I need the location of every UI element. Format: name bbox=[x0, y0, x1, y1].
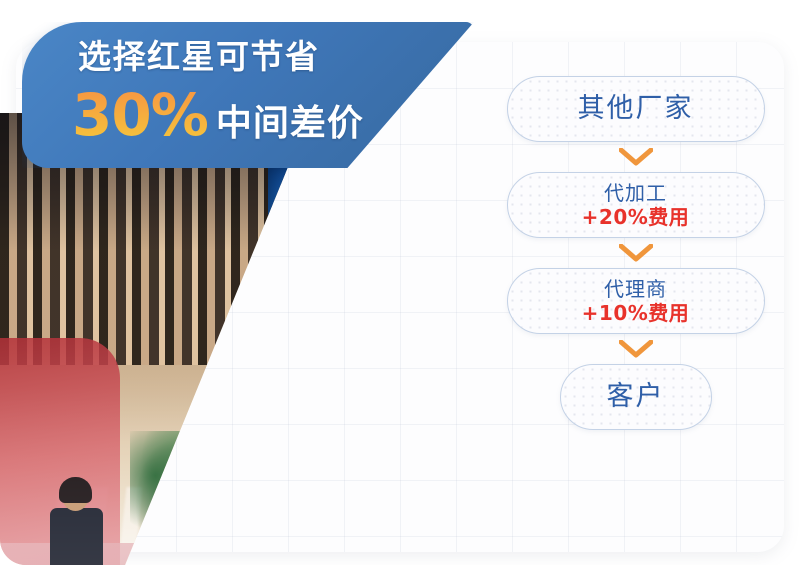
flow-step-oem-processing[interactable]: 代加工 +20%费用 bbox=[507, 172, 765, 238]
savings-percent: 30% bbox=[72, 86, 208, 144]
flow-step-title: 代理商 bbox=[604, 278, 667, 301]
banner-headline: 选择红星可节省 bbox=[78, 40, 320, 73]
poster-canvas: ed King bbox=[0, 0, 800, 565]
handbag bbox=[412, 553, 486, 565]
chevron-down-icon bbox=[619, 148, 653, 166]
flow-step-fee: +10%费用 bbox=[582, 302, 690, 325]
banner-subline: 30% 中间差价 bbox=[72, 86, 364, 144]
flow-step-customer[interactable]: 客户 bbox=[560, 364, 712, 430]
flow-step-title: 其他厂家 bbox=[578, 94, 694, 124]
flow-step-fee: +20%费用 bbox=[582, 206, 690, 229]
chevron-down-icon bbox=[619, 244, 653, 262]
middleman-flow-diagram: 其他厂家 代加工 +20%费用 代理商 +10%费用 客户 bbox=[498, 76, 773, 430]
chevron-down-icon bbox=[619, 340, 653, 358]
flow-step-other-manufacturers[interactable]: 其他厂家 bbox=[507, 76, 765, 142]
flow-step-title: 代加工 bbox=[604, 182, 667, 205]
flow-step-agent[interactable]: 代理商 +10%费用 bbox=[507, 268, 765, 334]
savings-label: 中间差价 bbox=[216, 106, 364, 142]
flow-step-title: 客户 bbox=[607, 382, 665, 412]
